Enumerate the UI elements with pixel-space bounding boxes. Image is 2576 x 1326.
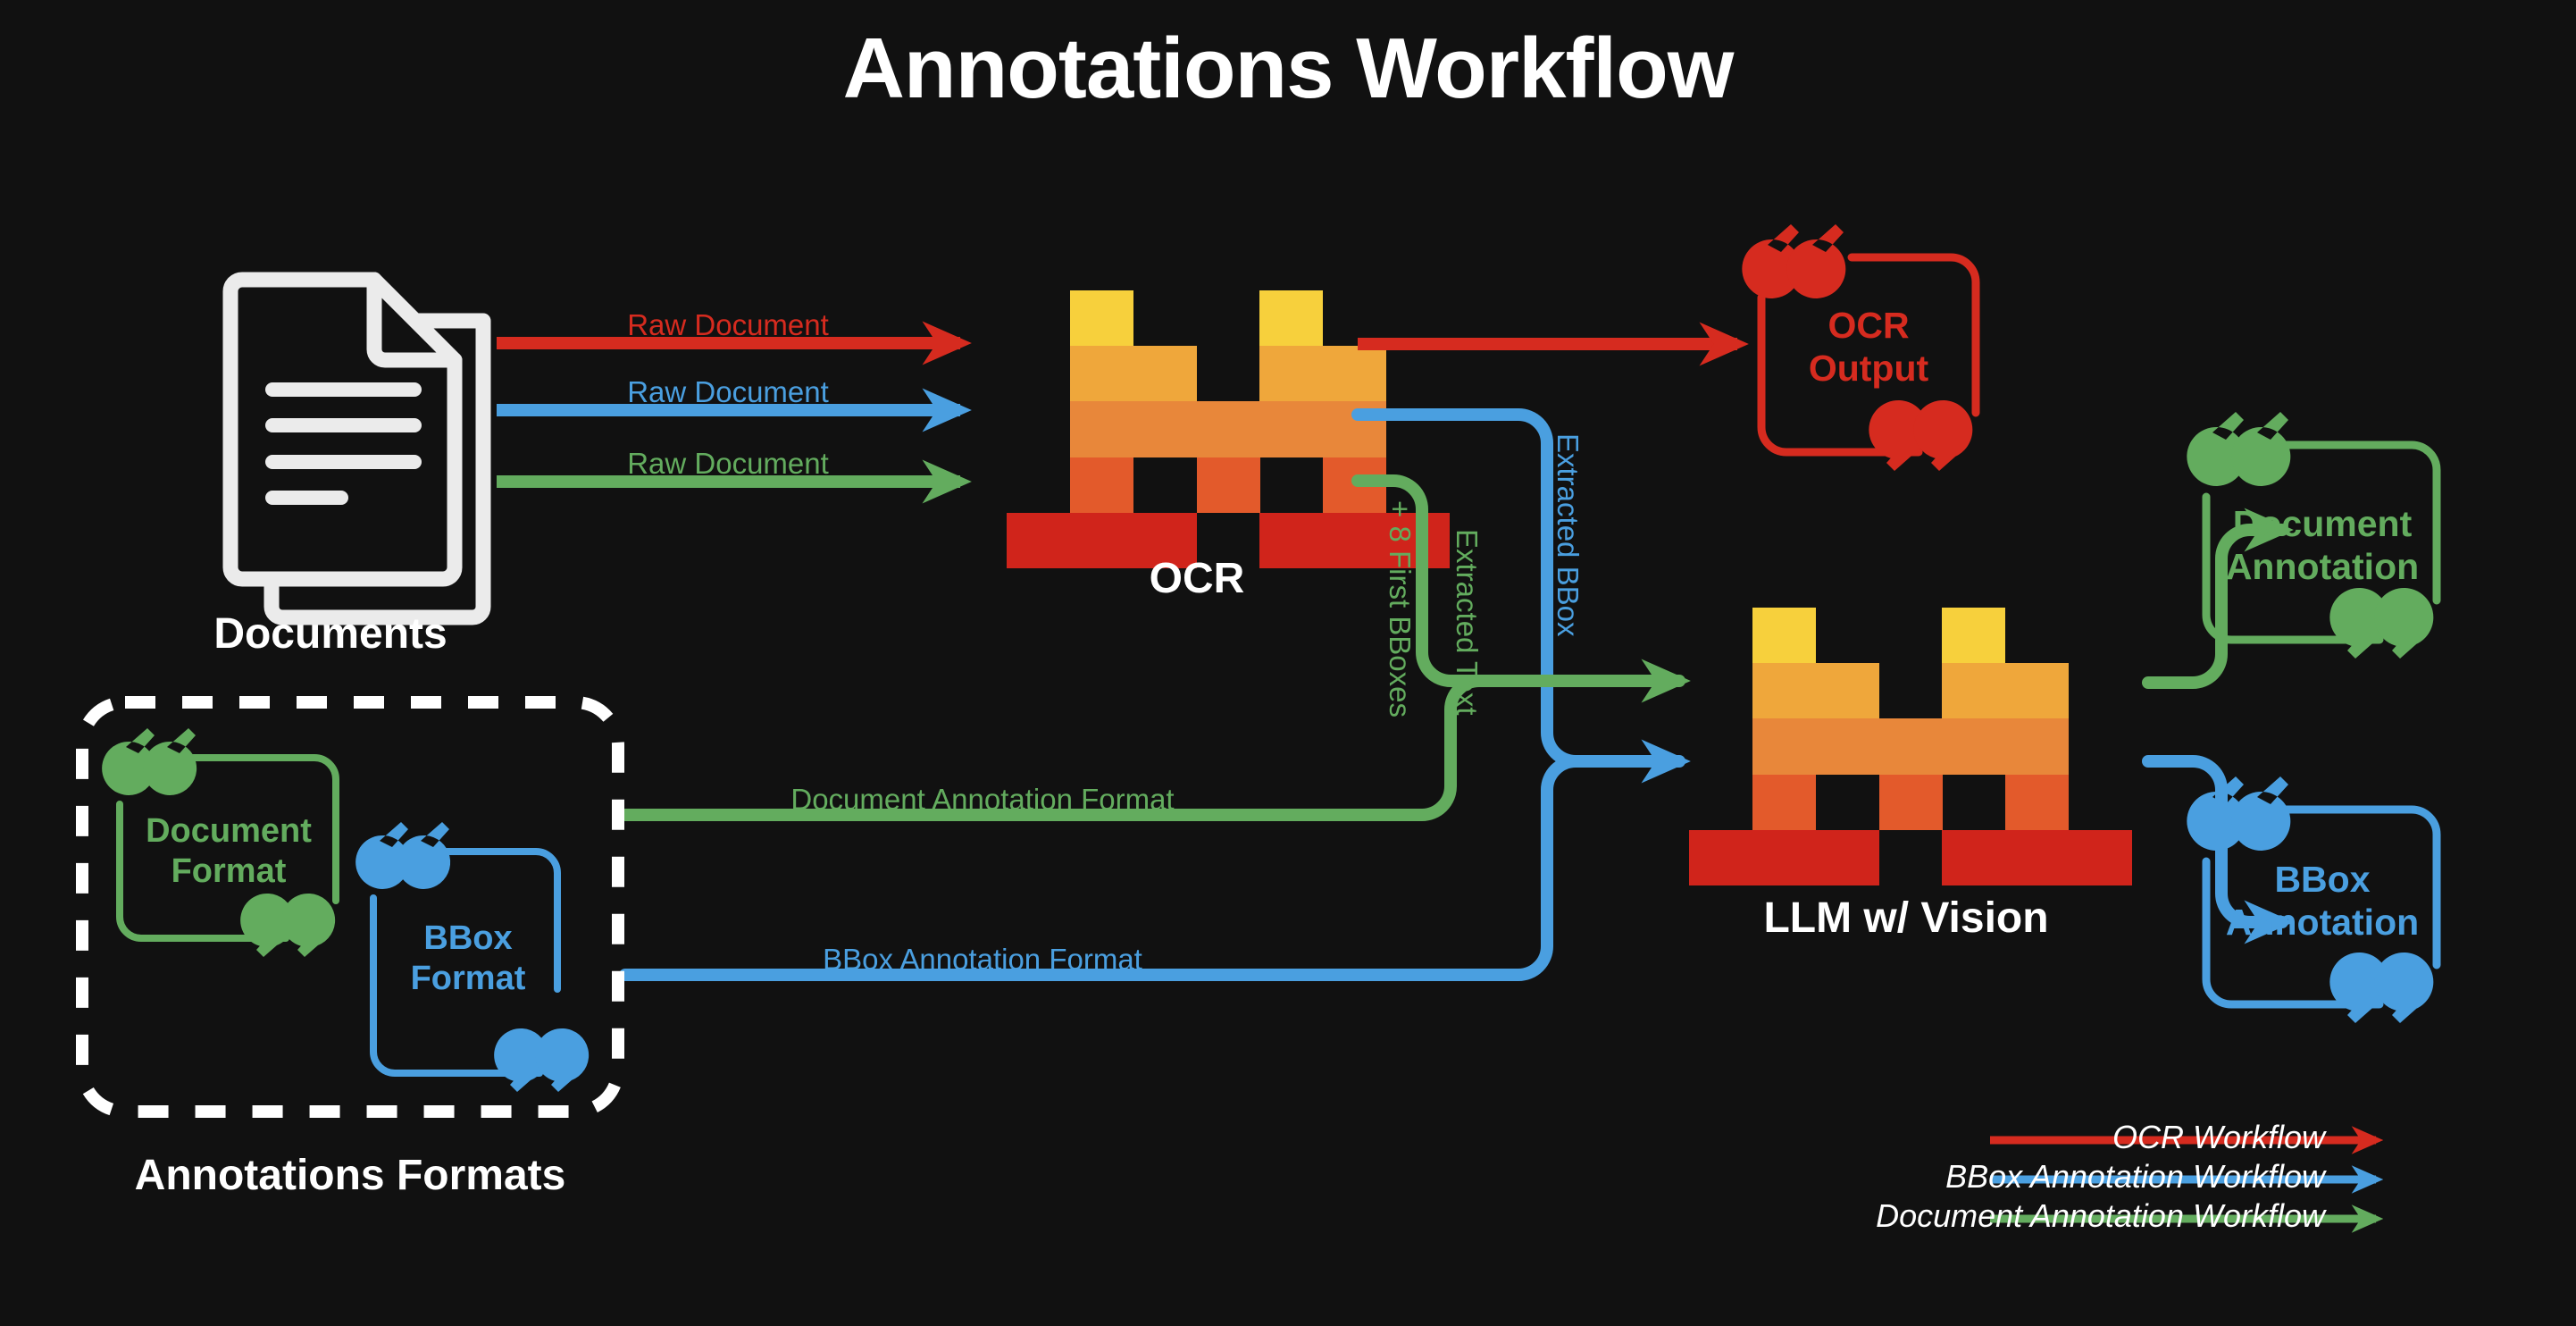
- edge-label-extracted-text: Extracted Text: [1450, 529, 1484, 716]
- ocr-output-text: OCR Output: [1779, 304, 1958, 390]
- document-format-line2: Format: [125, 852, 332, 892]
- edge-label-document-annotation-format: Document Annotation Format: [625, 783, 1340, 817]
- mistral-castle-icon-llm: [1689, 608, 2132, 885]
- legend-item-bbox: BBox Annotation Workflow: [1937, 1158, 2509, 1196]
- legend-arrow-slot-document: [2348, 1204, 2509, 1228]
- bbox-annotation-line2: Annotation: [2213, 901, 2431, 944]
- document-annotation-line2: Annotation: [2213, 545, 2431, 588]
- llm-label: LLM w/ Vision: [1683, 894, 2129, 943]
- legend-item-ocr: OCR Workflow: [1937, 1119, 2509, 1156]
- bbox-format-line2: Format: [379, 959, 557, 999]
- edge-label-first-bboxes: + 8 First BBoxes: [1383, 500, 1417, 718]
- bbox-format-text: BBox Format: [379, 919, 557, 999]
- document-annotation-text: Document Annotation: [2213, 502, 2431, 589]
- document-format-text: Document Format: [125, 811, 332, 892]
- document-format-line1: Document: [125, 811, 332, 852]
- edge-label-bbox-annotation-format: BBox Annotation Format: [625, 943, 1340, 977]
- bbox-annotation-text: BBox Annotation: [2213, 858, 2431, 944]
- bbox-annotation-line1: BBox: [2213, 858, 2431, 901]
- annotations-formats-label: Annotations Formats: [82, 1151, 618, 1200]
- legend-label-document: Document Annotation Workflow: [1876, 1197, 2325, 1235]
- legend-arrow-slot-bbox: [2348, 1165, 2509, 1188]
- ocr-label: OCR: [1000, 554, 1393, 603]
- legend-item-document: Document Annotation Workflow: [1937, 1197, 2509, 1235]
- edge-label-raw-document-green: Raw Document: [609, 447, 847, 481]
- edge-label-raw-document-blue: Raw Document: [609, 375, 847, 409]
- edge-label-raw-document-red: Raw Document: [609, 308, 847, 342]
- document-stack-icon: [230, 280, 483, 617]
- bbox-format-line1: BBox: [379, 919, 557, 959]
- document-annotation-line1: Document: [2213, 502, 2431, 545]
- legend-label-ocr: OCR Workflow: [2112, 1119, 2325, 1156]
- documents-label: Documents: [134, 609, 527, 659]
- ocr-output-line2: Output: [1779, 347, 1958, 390]
- legend-arrow-slot-ocr: [2348, 1126, 2509, 1149]
- edge-label-extracted-bbox: Extracted BBox: [1551, 433, 1585, 636]
- legend-label-bbox: BBox Annotation Workflow: [1945, 1158, 2325, 1196]
- ocr-output-line1: OCR: [1779, 304, 1958, 347]
